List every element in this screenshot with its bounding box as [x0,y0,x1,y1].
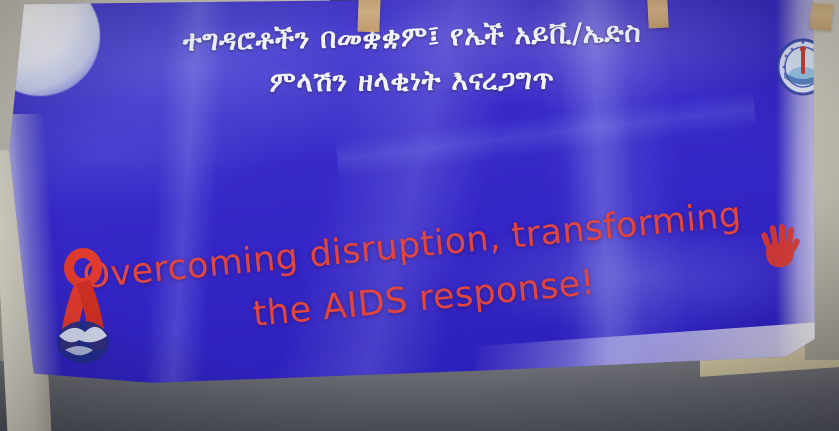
awareness-banner: ተግዳሮቶችን በመቋቋም፤ የኤች አይቪ/ኤድስ ምላሽን ዘላቂነት እና… [6,0,818,386]
banner-crease [335,89,757,180]
banner-crease [142,0,229,388]
ribbon-globe-shape [40,250,126,368]
masking-tape-strip [647,0,669,29]
english-slogan: Overcoming disruption, transforming the … [6,226,818,320]
banner-sheen [6,0,818,386]
amharic-headline-line1: ተግዳሮቶችን በመቋቋም፤ የኤች አይቪ/ኤድስ [6,10,819,63]
handprint-icon [758,222,802,270]
banner-crease [556,0,646,388]
amharic-headline: ተግዳሮቶችን በመቋቋም፤ የኤች አይቪ/ኤድስ ምላሽን ዘላቂነት እና… [6,18,818,99]
ribbon-globe-icon [40,250,126,368]
handprint-shape [758,222,802,270]
masking-tape-strip [809,3,834,31]
amharic-headline-line2: ምላሽን ዘላቂነት እናረጋግጥ [6,57,818,103]
photo-scene: ተግዳሮቶችን በመቋቋም፤ የኤች አይቪ/ኤድስ ምላሽን ዘላቂነት እና… [0,0,839,431]
english-slogan-line1: Overcoming disruption, transforming [6,188,818,304]
english-slogan-line2: the AIDS response! [18,241,830,357]
masking-tape-strip [357,0,380,32]
